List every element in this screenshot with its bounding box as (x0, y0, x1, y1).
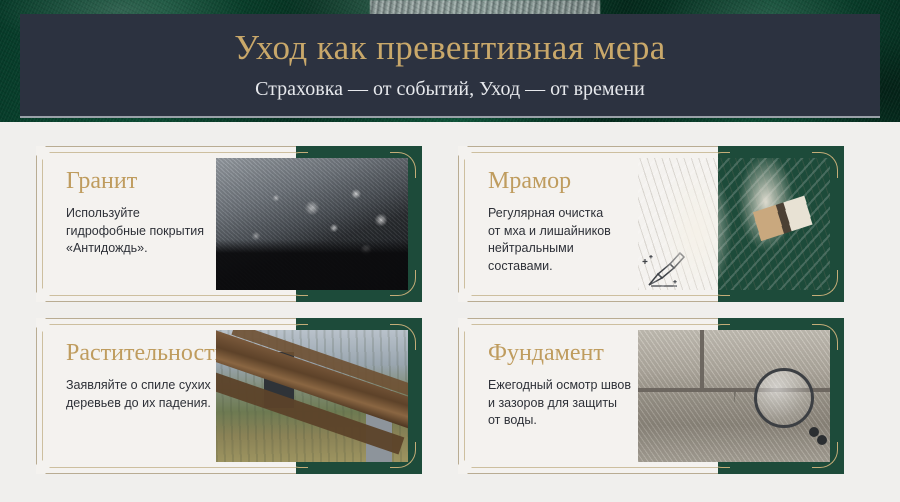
card-rastitelnost[interactable]: Растительность Заявляйте о спиле сухих д… (36, 318, 422, 474)
card-granit[interactable]: Гранит Используйте гидрофобные покрытия … (36, 146, 422, 302)
page-subtitle: Страховка — от событий, Уход — от времен… (20, 76, 880, 102)
foundation-joint-magnifier-photo (638, 330, 830, 462)
slide-root: Уход как превентивная мера Страховка — о… (0, 0, 900, 502)
fallen-tree-cemetery-photo (216, 330, 408, 462)
cards-grid: Гранит Используйте гидрофобные покрытия … (0, 122, 900, 502)
page-title: Уход как превентивная мера (20, 27, 880, 69)
card-mramor[interactable]: Мрамор Регулярная очистка от мха и лишай… (458, 146, 844, 302)
marble-statue-brushing-photo (638, 158, 830, 290)
card-fundament[interactable]: Фундамент Ежегодный осмотр швов и зазоро… (458, 318, 844, 474)
wet-granite-slab-photo (216, 158, 408, 290)
slide-header: Уход как превентивная мера Страховка — о… (20, 14, 880, 118)
